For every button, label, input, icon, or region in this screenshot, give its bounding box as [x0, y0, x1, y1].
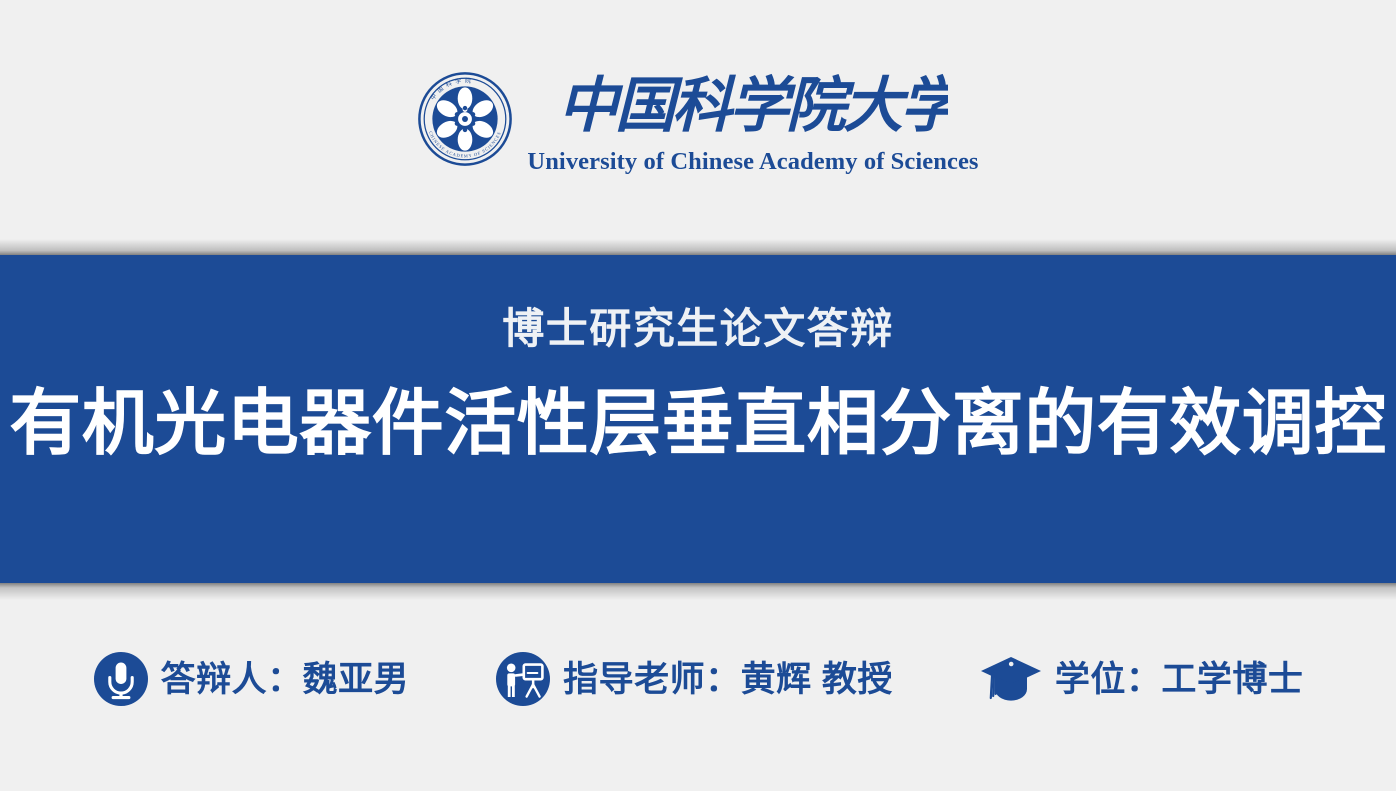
university-logo: 中 国 科 学 院 CHINESE ACADEMY OF SCIENCES 中国… — [0, 62, 1396, 175]
page-title: 有机光电器件活性层垂直相分离的有效调控 — [9, 382, 1387, 467]
university-name-cn-text: 中国科学院大学 — [558, 71, 948, 141]
university-name-cn: 中国科学院大学 — [558, 64, 948, 146]
presentation-title-slide: 中 国 科 学 院 CHINESE ACADEMY OF SCIENCES 中国… — [0, 0, 1396, 791]
teacher-presenting-icon — [495, 651, 551, 707]
presenter-text: 答辩人：魏亚男 — [161, 662, 410, 697]
banner-top-shadow — [0, 239, 1396, 255]
banner-bottom-shadow — [0, 583, 1396, 600]
graduation-cap-icon — [979, 651, 1043, 707]
meta-item-degree: 学位：工学博士 — [979, 651, 1304, 707]
degree-text: 学位：工学博士 — [1055, 662, 1304, 697]
university-name-en: University of Chinese Academy of Science… — [527, 150, 978, 175]
meta-item-presenter: 答辩人：魏亚男 — [93, 651, 410, 707]
defense-kind-label: 博士研究生论文答辩 — [502, 308, 894, 350]
meta-item-supervisor: 指导老师：黄辉 教授 — [495, 651, 893, 707]
microphone-icon — [93, 651, 149, 707]
presenter-meta-row: 答辩人：魏亚男 指导老 — [0, 651, 1396, 707]
title-banner: 博士研究生论文答辩 有机光电器件活性层垂直相分离的有效调控 — [0, 255, 1396, 583]
supervisor-text: 指导老师：黄辉 教授 — [563, 662, 893, 697]
ucas-seal-emblem-icon: 中 国 科 学 院 CHINESE ACADEMY OF SCIENCES — [417, 71, 513, 167]
